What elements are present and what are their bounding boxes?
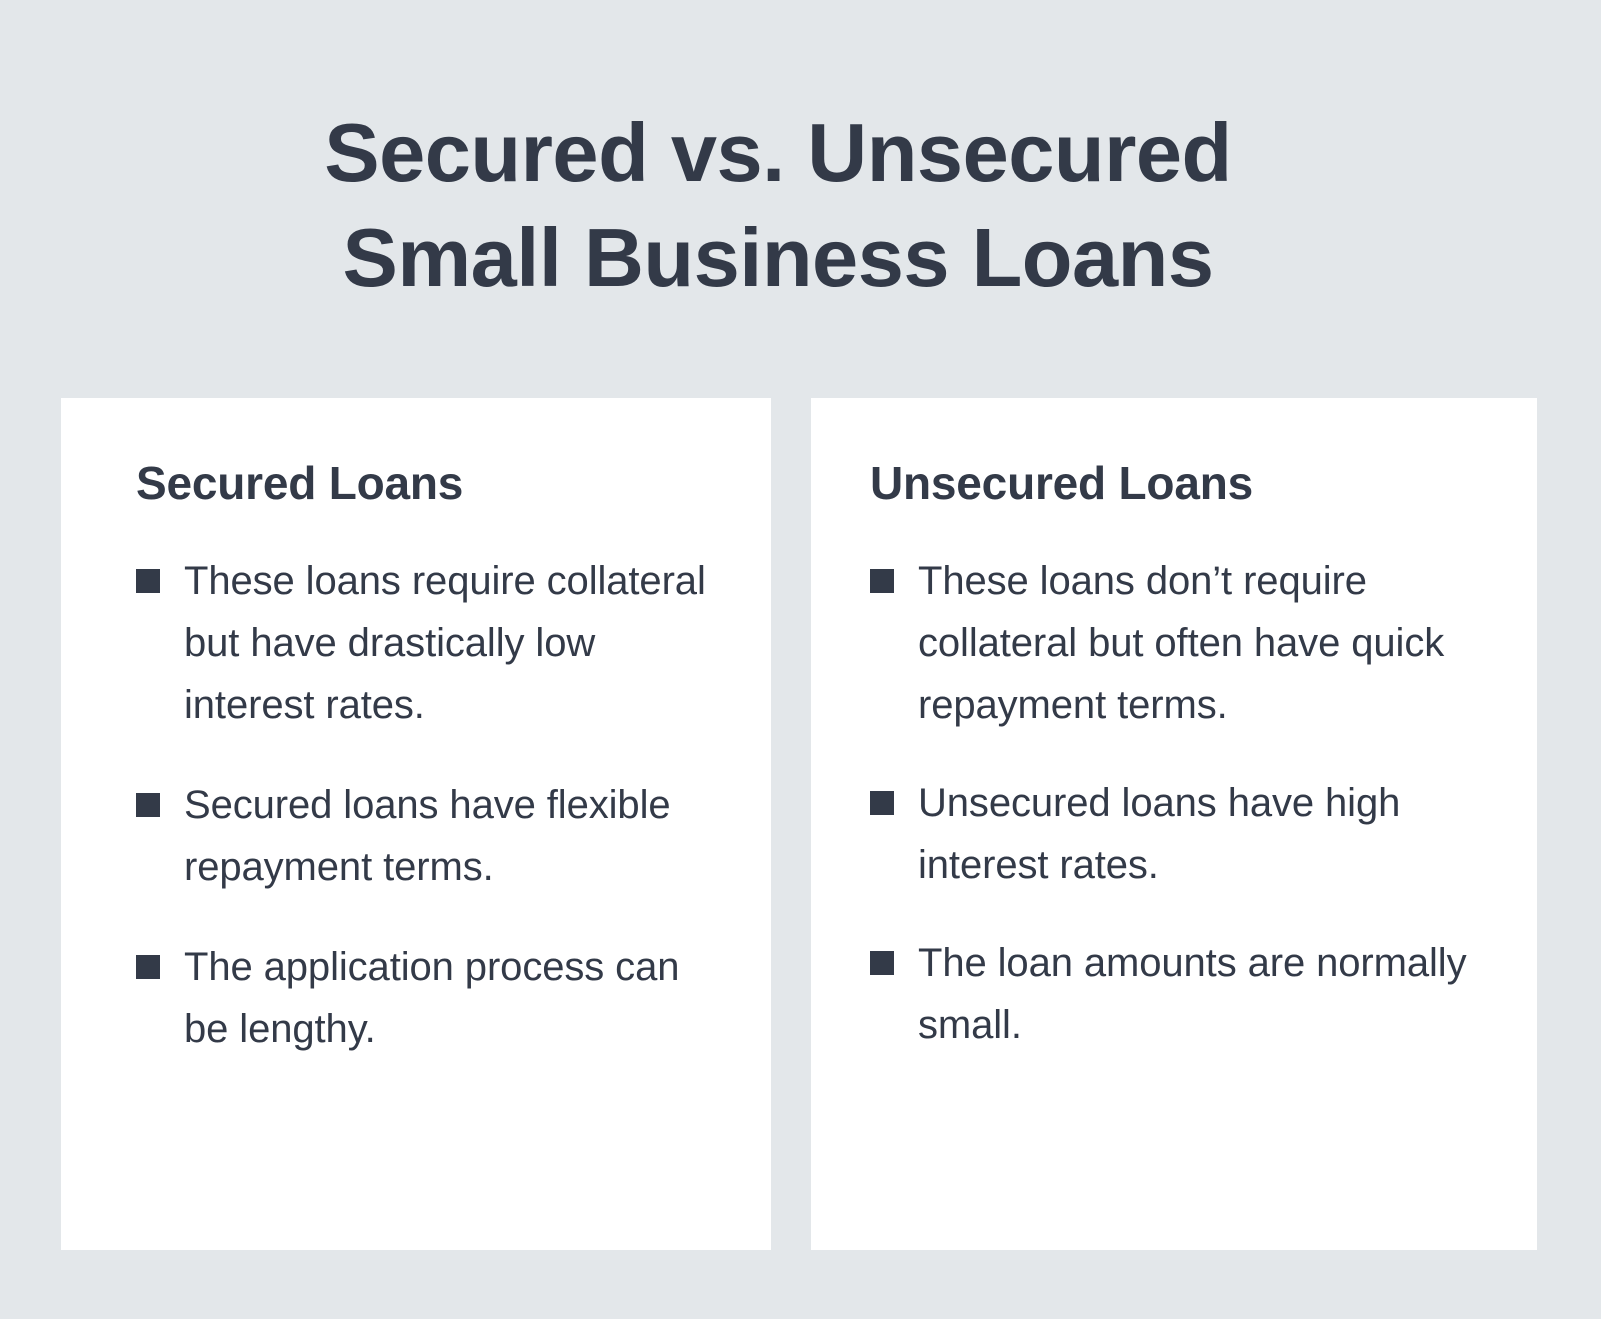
card-heading-unsecured-loans: Unsecured Loans xyxy=(870,456,1497,510)
bullet-list-unsecured-loans: These loans don’t require collateral but… xyxy=(870,550,1497,1056)
list-item-text: The application process can be lengthy. xyxy=(184,936,731,1060)
list-item: Secured loans have flexible repayment te… xyxy=(136,774,731,898)
list-item-text: Secured loans have flexible repayment te… xyxy=(184,774,731,898)
page-title-line-2: Small Business Loans xyxy=(0,205,1556,310)
filled-square-bullet-icon xyxy=(136,793,160,817)
comparison-infographic: Secured vs. Unsecured Small Business Loa… xyxy=(0,0,1601,1319)
list-item: These loans don’t require collateral but… xyxy=(870,550,1497,736)
filled-square-bullet-icon xyxy=(870,569,894,593)
comparison-cards-row: Secured Loans These loans require collat… xyxy=(61,398,1537,1250)
page-title: Secured vs. Unsecured Small Business Loa… xyxy=(0,100,1556,310)
list-item: Unsecured loans have high interest rates… xyxy=(870,772,1497,896)
card-secured-loans: Secured Loans These loans require collat… xyxy=(61,398,771,1250)
filled-square-bullet-icon xyxy=(136,569,160,593)
filled-square-bullet-icon xyxy=(136,955,160,979)
card-heading-secured-loans: Secured Loans xyxy=(136,456,731,510)
list-item-text: The loan amounts are normally small. xyxy=(918,932,1497,1056)
card-unsecured-loans: Unsecured Loans These loans don’t requir… xyxy=(811,398,1537,1250)
list-item-text: These loans don’t require collateral but… xyxy=(918,550,1497,736)
list-item-text: Unsecured loans have high interest rates… xyxy=(918,772,1497,896)
list-item: The application process can be lengthy. xyxy=(136,936,731,1060)
filled-square-bullet-icon xyxy=(870,791,894,815)
filled-square-bullet-icon xyxy=(870,951,894,975)
page-title-line-1: Secured vs. Unsecured xyxy=(0,100,1556,205)
list-item-text: These loans require collateral but have … xyxy=(184,550,731,736)
list-item: These loans require collateral but have … xyxy=(136,550,731,736)
bullet-list-secured-loans: These loans require collateral but have … xyxy=(136,550,731,1060)
list-item: The loan amounts are normally small. xyxy=(870,932,1497,1056)
